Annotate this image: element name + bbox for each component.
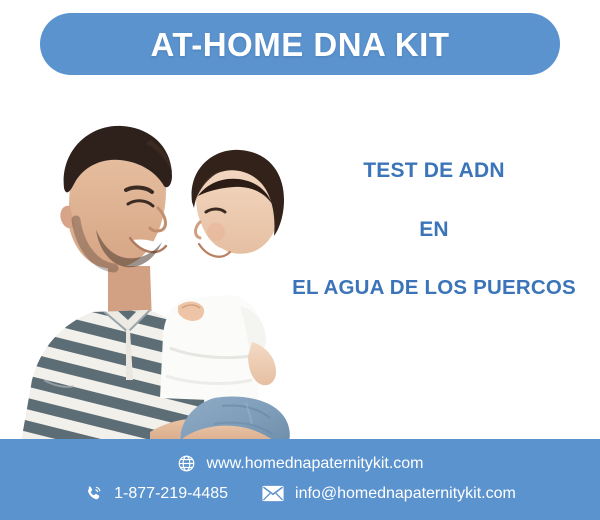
header-banner: AT-HOME DNA KIT (40, 13, 560, 75)
footer-bar (0, 439, 600, 520)
globe-icon (177, 454, 196, 473)
footer-contact-row: 1-877-219-4485 info@homednapaternitykit.… (0, 484, 600, 503)
envelope-icon (262, 485, 284, 502)
headline-block: TEST DE ADN EN EL AGUA DE LOS PUERCOS (268, 160, 600, 299)
footer-website-row[interactable]: www.homednapaternitykit.com (0, 454, 600, 473)
promo-card: AT-HOME DNA KIT (0, 0, 600, 520)
headline-line-3: EL AGUA DE LOS PUERCOS (268, 278, 600, 299)
headline-line-2: EN (268, 219, 600, 240)
email-text[interactable]: info@homednapaternitykit.com (295, 486, 516, 502)
website-text[interactable]: www.homednapaternitykit.com (207, 456, 424, 472)
headline-line-1: TEST DE ADN (268, 160, 600, 181)
phone-text[interactable]: 1-877-219-4485 (114, 486, 228, 502)
phone-icon (84, 484, 103, 503)
header-title: AT-HOME DNA KIT (151, 28, 450, 61)
